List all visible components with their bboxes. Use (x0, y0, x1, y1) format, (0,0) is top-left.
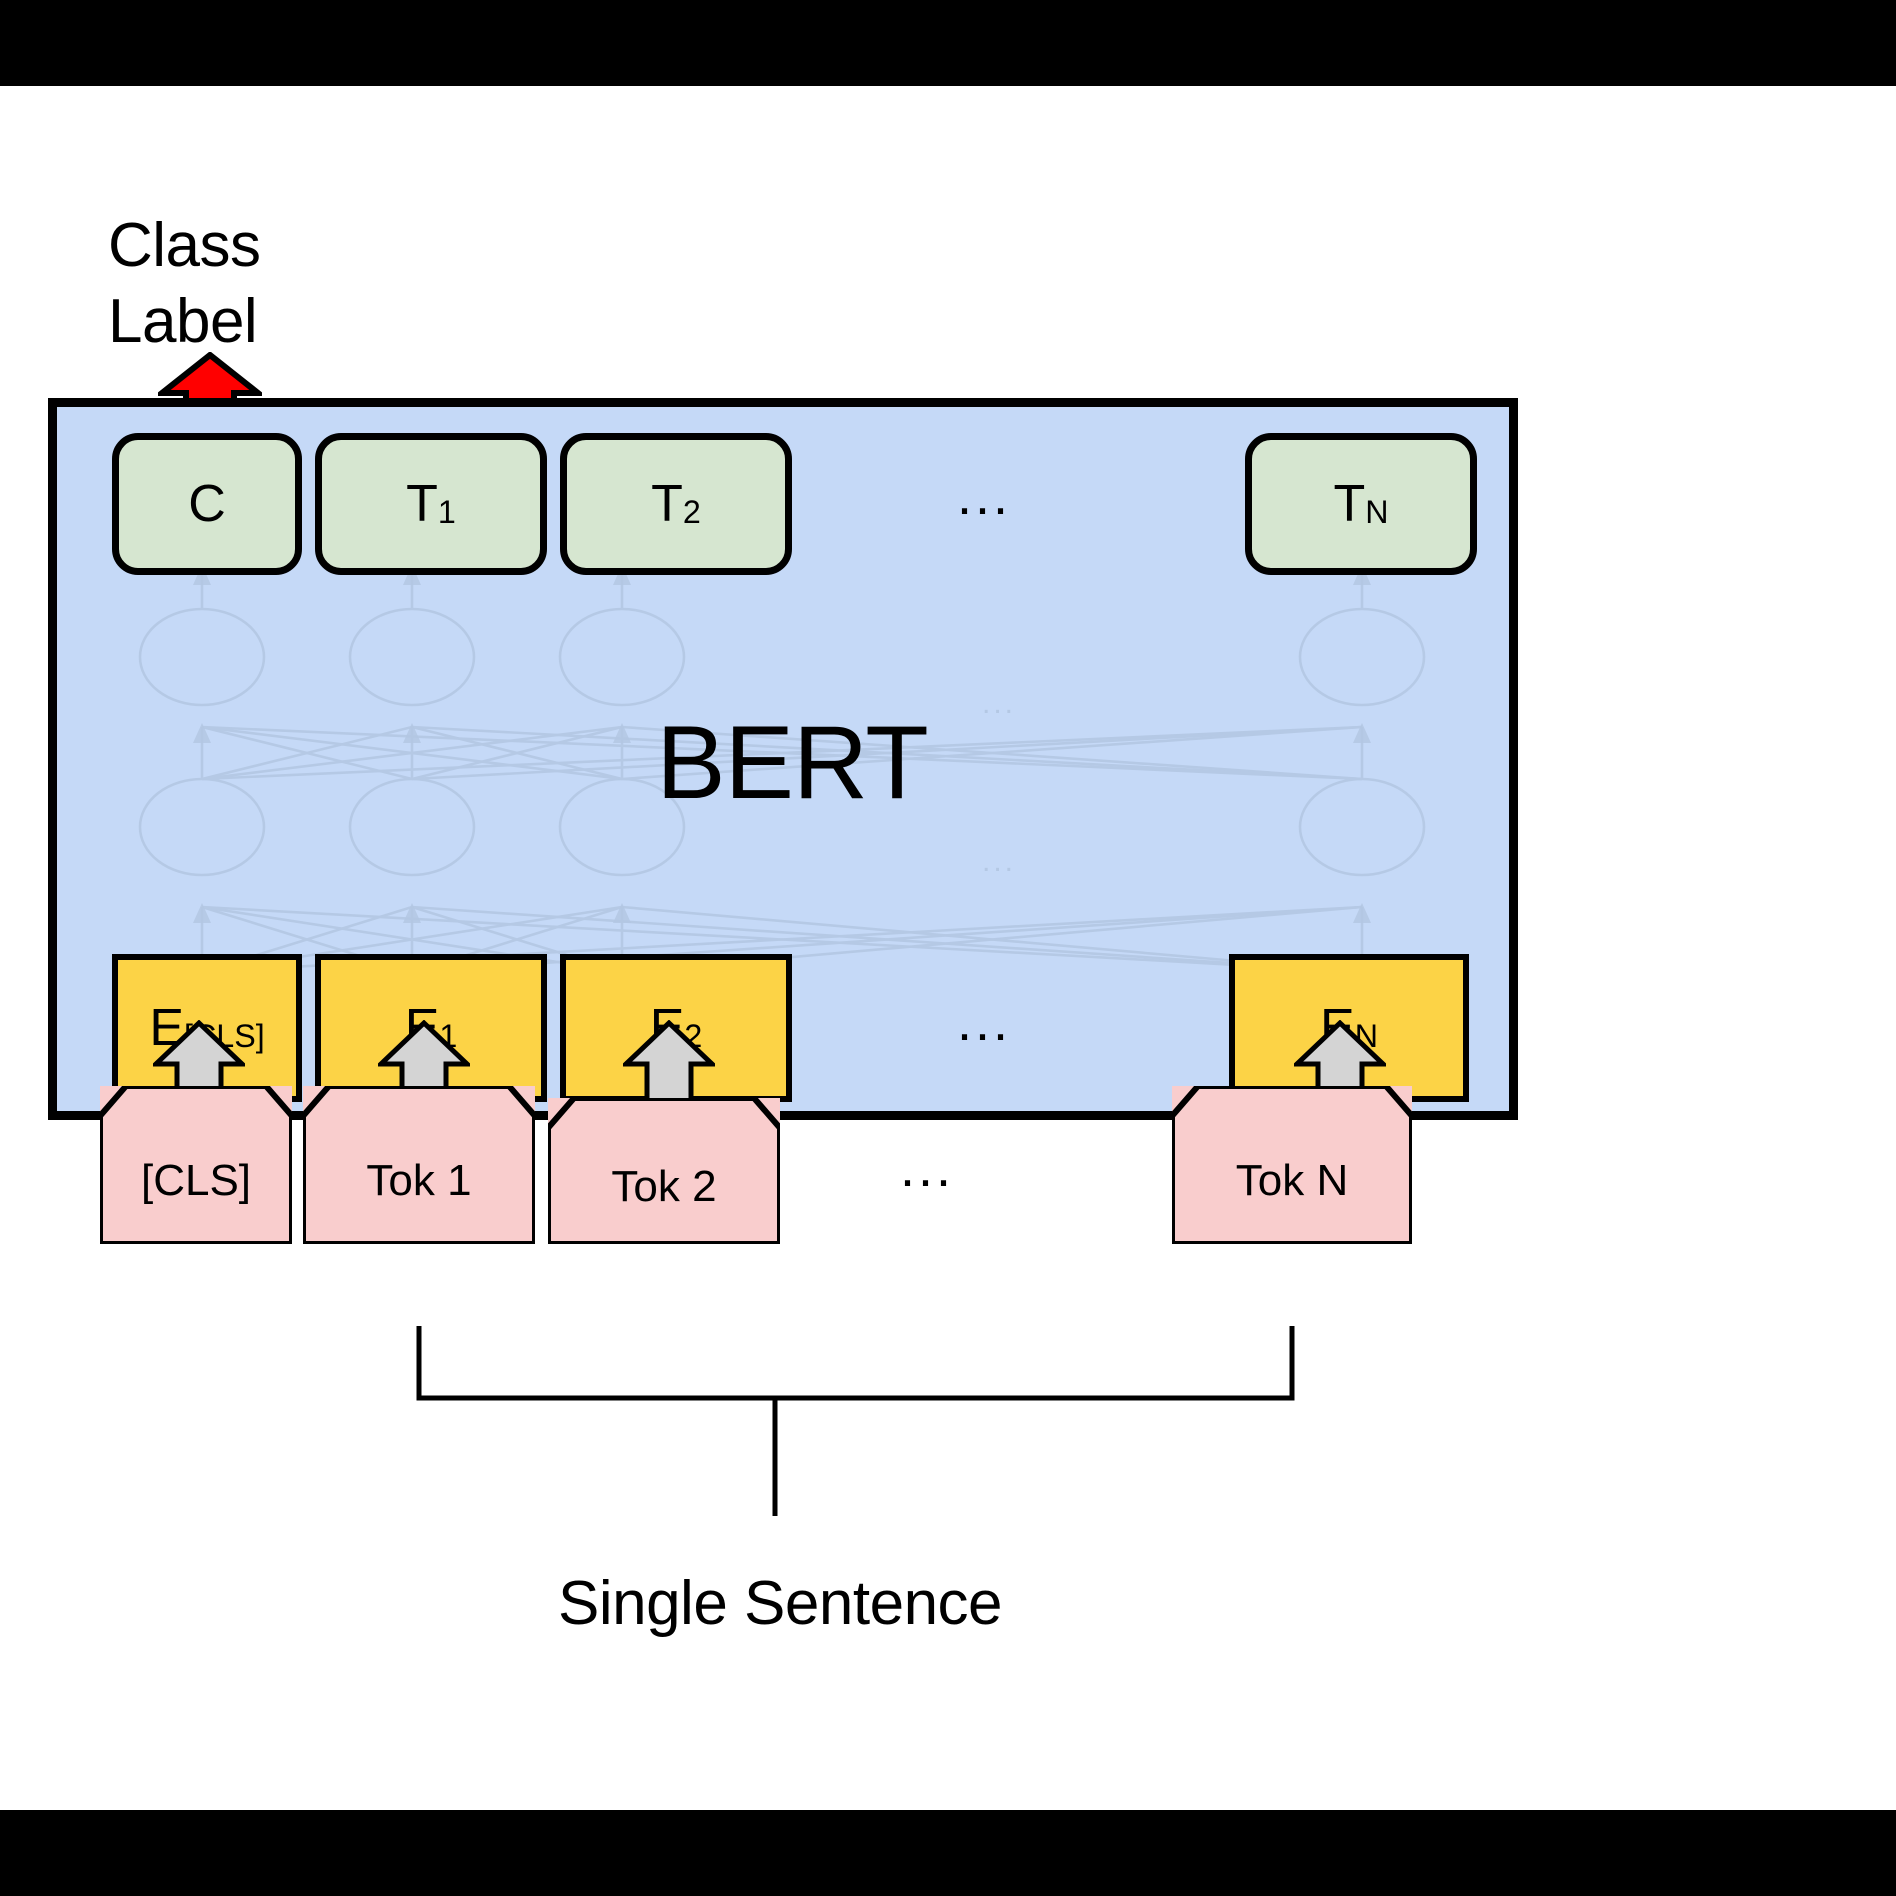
output-token-c-label: C (188, 474, 226, 534)
input-token-ellipsis: ... (900, 1141, 954, 1195)
embedding-ellipsis: ... (957, 995, 1011, 1049)
network-ellipsis-upper: ... (982, 689, 1016, 719)
input-sentence-bracket (48, 1326, 1518, 1566)
output-token-t2-base: T (651, 474, 683, 534)
bert-model-title: BERT (57, 704, 1527, 823)
input-token-tok1[interactable]: Tok 1 (303, 1086, 535, 1244)
diagram-canvas: Class Label (0, 0, 1896, 1896)
input-token-tokn-label: Tok N (1236, 1124, 1348, 1206)
output-token-t2[interactable]: T2 (560, 433, 792, 575)
input-token-tok2[interactable]: Tok 2 (548, 1098, 780, 1244)
diagram-page-area: Class Label (0, 86, 1896, 1810)
input-token-cls-label: [CLS] (141, 1124, 251, 1206)
output-token-tn-base: T (1333, 474, 1365, 534)
bert-model-box: BERT ... ... C T1 T2 ... TN E[CLS] (48, 398, 1518, 1120)
output-token-ellipsis: ... (957, 469, 1011, 523)
class-label-text: Class Label (108, 208, 261, 359)
single-sentence-caption: Single Sentence (0, 1568, 1560, 1639)
network-ellipsis-lower: ... (982, 847, 1016, 877)
output-token-t1[interactable]: T1 (315, 433, 547, 575)
input-token-tok2-label: Tok 2 (611, 1130, 716, 1212)
output-token-tn[interactable]: TN (1245, 433, 1477, 575)
letterbox-bottom-bar (0, 1810, 1896, 1896)
input-token-tokn[interactable]: Tok N (1172, 1086, 1412, 1244)
input-token-cls[interactable]: [CLS] (100, 1086, 292, 1244)
output-token-t1-base: T (406, 474, 438, 534)
input-token-tok1-label: Tok 1 (366, 1124, 471, 1206)
output-token-c[interactable]: C (112, 433, 302, 575)
letterbox-top-bar (0, 0, 1896, 86)
